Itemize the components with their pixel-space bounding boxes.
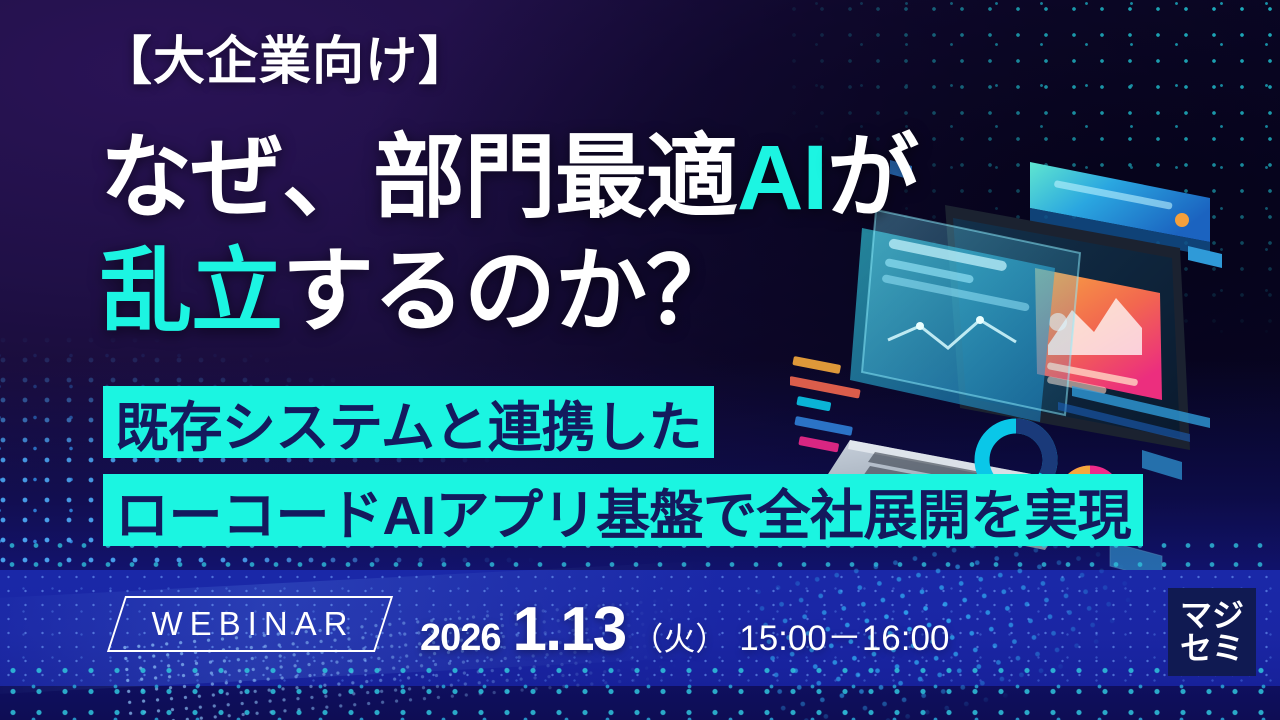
headline-ranritsu-accent: 乱立 xyxy=(100,241,282,343)
event-day: 1.13 xyxy=(513,594,626,665)
subtitle-bar-2: ローコードAIアプリ基盤で全社展開を実現 xyxy=(103,474,1143,546)
headline-line-1: なぜ、部門最適AIが xyxy=(100,132,918,224)
subtitle-bar-1-text: 既存システムと連携した xyxy=(115,383,702,462)
headline-line-2: 乱立するのか？ xyxy=(100,246,737,338)
decorative-bars xyxy=(790,356,861,452)
majisemi-logo[interactable]: マジ セミ xyxy=(1168,588,1256,676)
headline-line-1-part-c: が xyxy=(827,127,918,229)
subtitle-bar-1: 既存システムと連携した xyxy=(103,386,714,458)
headline-line-1-part-a: なぜ、部門最適 xyxy=(100,127,737,229)
webinar-badge-label: WEBINAR xyxy=(116,596,384,652)
headline-ai-accent: AI xyxy=(737,127,827,229)
eyebrow-label: 【大企業向け】 xyxy=(100,36,471,88)
event-time-range: 15:00－16:00 xyxy=(739,610,949,661)
subtitle-bar-2-text: ローコードAIアプリ基盤で全社展開を実現 xyxy=(115,471,1131,550)
webinar-badge: WEBINAR xyxy=(116,596,384,652)
logo-line-2: セミ xyxy=(1180,632,1244,665)
event-datetime: 2026 1.13 （火） 15:00－16:00 xyxy=(420,594,949,665)
webinar-banner: 【大企業向け】 なぜ、部門最適AIが 乱立するのか？ 既存システムと連携した ロ… xyxy=(0,0,1280,720)
headline-line-2-part-b: するのか？ xyxy=(282,241,737,343)
logo-line-1: マジ xyxy=(1180,599,1244,632)
event-day-of-week: （火） xyxy=(631,614,727,660)
event-year: 2026 xyxy=(420,617,501,660)
